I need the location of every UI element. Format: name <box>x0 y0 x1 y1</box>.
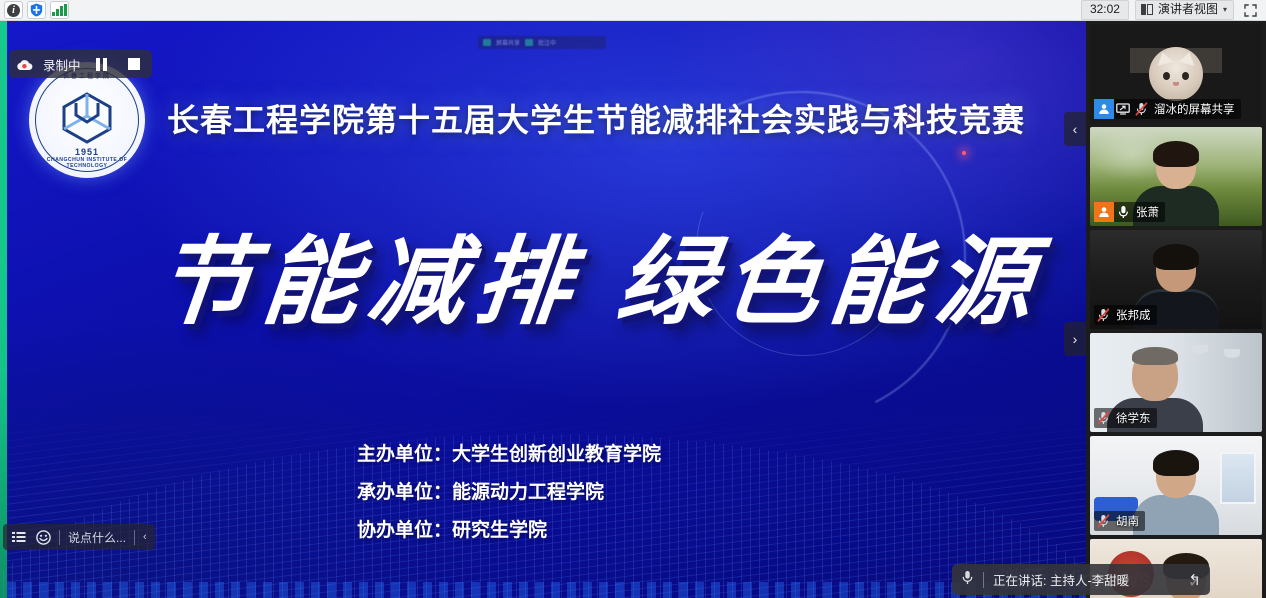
share-status-label: 屏幕共享 <box>496 38 520 47</box>
tile-badge-row: 张萧 <box>1094 202 1165 222</box>
organizer-line-undertaker: 承办单位：能源动力工程学院 <box>357 474 1017 512</box>
participant-name: 溜冰的屏幕共享 <box>1150 101 1235 117</box>
tile-badge-row: 胡南 <box>1094 511 1145 531</box>
logo-en-text: CHANGCHUN INSTITUTE OF TECHNOLOGY <box>32 157 142 169</box>
signal-bars-icon[interactable] <box>50 1 69 19</box>
meeting-timer: 32:02 <box>1081 0 1129 20</box>
participant-name: 胡南 <box>1112 513 1139 529</box>
toolbar-right-controls: 32:02 演讲者视图 ▾ <box>1081 0 1266 20</box>
recording-label: 录制中 <box>43 55 81 74</box>
decor-led-strip <box>7 582 1086 598</box>
participant-video-rail[interactable]: 溜冰的屏幕共享 <box>1086 21 1266 598</box>
chevron-left-icon[interactable]: ‹ <box>143 531 147 543</box>
shared-screen-stage: 长春工程学院 1951 CHANGCHUN INSTITUTE OF TECHN… <box>0 21 1086 598</box>
share-border-indicator <box>0 21 7 598</box>
divider <box>59 530 60 545</box>
organizer-line-coorganizer: 协办单位：研究生学院 <box>357 512 1017 550</box>
cloud-record-icon <box>16 58 33 70</box>
mic-muted-icon <box>1094 409 1112 427</box>
list-icon[interactable] <box>11 529 27 545</box>
divider <box>983 572 984 588</box>
participant-name: 徐学东 <box>1112 410 1151 426</box>
participant-tile[interactable]: 徐学东 <box>1090 333 1262 432</box>
participant-tile[interactable]: 张萧 <box>1090 127 1262 226</box>
active-speaker-label: 正在讲话: 主持人-李甜暖 <box>993 570 1129 589</box>
screen-share-icon <box>1114 100 1132 118</box>
participant-tile[interactable]: 溜冰的屏幕共享 <box>1090 24 1262 123</box>
info-icon[interactable]: i <box>4 1 23 19</box>
browser-toolbar: i 32:02 演讲者视图 ▾ <box>0 0 1266 21</box>
check-icon: ✓ <box>1188 572 1201 592</box>
slide-title: 长春工程学院第十五届大学生节能减排社会实践与科技竞赛 <box>167 95 1027 141</box>
mic-icon <box>961 570 974 590</box>
participant-name: 张邦成 <box>1112 307 1151 323</box>
decor-spark <box>962 151 966 155</box>
organizer-line-host: 主办单位：大学生创新创业教育学院 <box>357 436 1017 474</box>
pause-icon[interactable] <box>91 53 113 75</box>
mic-on-icon <box>1114 203 1132 221</box>
collapse-panel-chevron-left[interactable]: ‹ <box>1064 112 1086 146</box>
screen-share-mini-toolbar[interactable]: 屏幕共享 批注中 <box>478 36 606 49</box>
tile-badge-row: 徐学东 <box>1094 408 1157 428</box>
meeting-window: i 32:02 演讲者视图 ▾ <box>0 0 1266 598</box>
recording-widget: 录制中 <box>9 50 152 78</box>
participant-tile[interactable]: 张邦成 <box>1090 230 1262 329</box>
host-badge-icon <box>1094 202 1114 222</box>
tile-badge-row: 溜冰的屏幕共享 <box>1094 99 1241 119</box>
stop-icon[interactable] <box>123 53 145 75</box>
shield-icon[interactable] <box>27 1 46 19</box>
presentation-slide: 长春工程学院 1951 CHANGCHUN INSTITUTE OF TECHN… <box>7 21 1086 598</box>
toolbar-left-icons: i <box>0 1 69 19</box>
participant-tile[interactable]: 胡南 <box>1090 436 1262 535</box>
chevron-down-icon: ▾ <box>1223 2 1227 17</box>
decor-window <box>1220 452 1256 504</box>
mic-muted-icon <box>1132 100 1150 118</box>
expand-panel-chevron-right[interactable]: › <box>1064 322 1086 356</box>
annotate-status-label: 批注中 <box>538 38 556 47</box>
chat-input-bar[interactable]: 说点什么... ‹ <box>3 524 155 550</box>
participant-name: 张萧 <box>1132 204 1159 220</box>
university-logo: 长春工程学院 1951 CHANGCHUN INSTITUTE OF TECHN… <box>29 62 145 178</box>
slide-organizers: 主办单位：大学生创新创业教育学院 承办单位：能源动力工程学院 协办单位：研究生学… <box>357 436 1017 550</box>
view-mode-selector[interactable]: 演讲者视图 ▾ <box>1135 0 1234 20</box>
speaker-view-icon <box>1141 4 1153 15</box>
active-speaker-bar[interactable]: 正在讲话: 主持人-李甜暖 ↰ <box>952 564 1210 595</box>
emoji-icon[interactable] <box>35 529 51 545</box>
slide-hero-heading: 节能减排 绿色能源 <box>152 233 993 334</box>
divider <box>134 530 135 545</box>
chat-input-placeholder[interactable]: 说点什么... <box>68 529 126 546</box>
logo-year: 1951 <box>29 147 145 157</box>
fullscreen-icon[interactable] <box>1240 1 1260 19</box>
person-silhouette <box>1133 452 1219 535</box>
mic-muted-icon <box>1094 306 1112 324</box>
avatar <box>1149 47 1203 101</box>
tile-badge-row: 张邦成 <box>1094 305 1157 325</box>
view-mode-label: 演讲者视图 <box>1158 2 1218 17</box>
mic-muted-icon <box>1094 512 1112 530</box>
share-status-icon <box>483 39 491 46</box>
annotate-status-icon <box>525 39 533 46</box>
host-badge-icon <box>1094 99 1114 119</box>
